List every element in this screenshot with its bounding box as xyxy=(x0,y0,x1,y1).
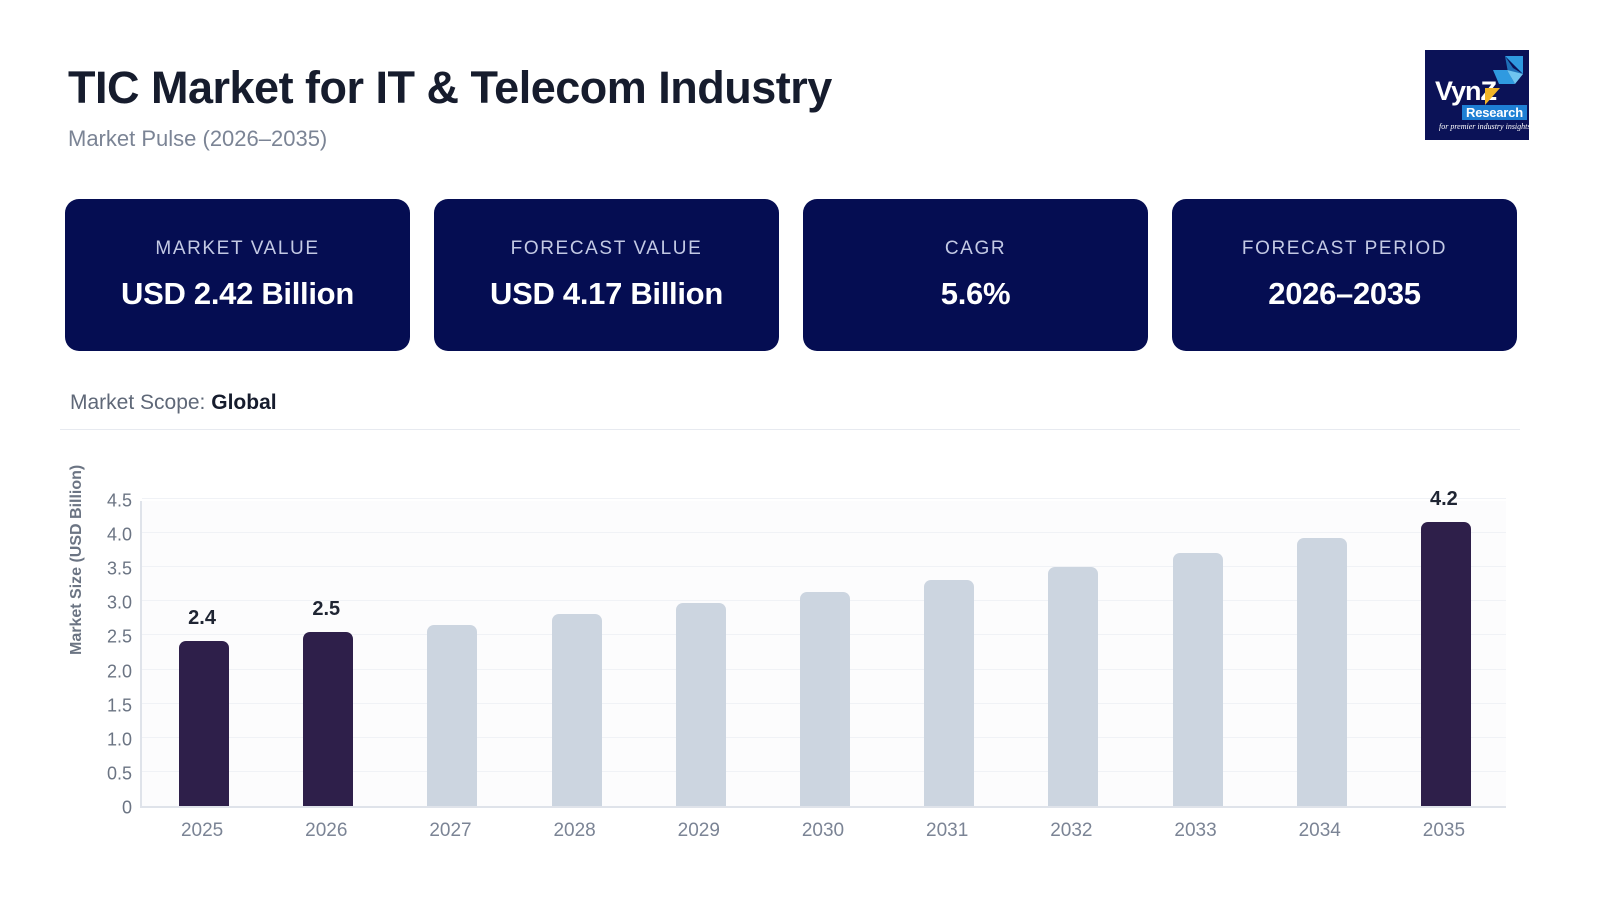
y-axis-tick-label: 0 xyxy=(86,798,132,819)
bar[interactable] xyxy=(676,603,726,806)
market-scope: Market Scope: Global xyxy=(70,391,277,415)
page-title: TIC Market for IT & Telecom Industry xyxy=(68,62,1348,114)
stat-card-value: 5.6% xyxy=(941,276,1010,312)
stat-card-cagr: CAGR 5.6% xyxy=(803,199,1148,351)
stat-card-value: USD 2.42 Billion xyxy=(121,276,354,312)
stat-card-label: FORECAST PERIOD xyxy=(1242,238,1447,260)
stat-card-label: FORECAST VALUE xyxy=(511,238,703,260)
logo-tagline: for premier industry insights xyxy=(1439,122,1529,131)
bar[interactable] xyxy=(1048,567,1098,806)
stat-card-label: CAGR xyxy=(945,238,1006,260)
y-axis-tick-label: 2.0 xyxy=(86,661,132,682)
stat-card-forecast-value: FORECAST VALUE USD 4.17 Billion xyxy=(434,199,779,351)
y-axis-tick-label: 1.0 xyxy=(86,729,132,750)
bar[interactable] xyxy=(1421,522,1471,806)
bar[interactable] xyxy=(303,632,353,806)
logo-subtitle: Research xyxy=(1462,105,1527,120)
x-axis-tick-label: 2028 xyxy=(553,820,595,842)
y-axis-tick-label: 2.5 xyxy=(86,627,132,648)
x-axis-tick-label: 2035 xyxy=(1423,820,1465,842)
logo-gold-accent xyxy=(1485,88,1500,105)
stat-card-label: MARKET VALUE xyxy=(155,238,319,260)
header: TIC Market for IT & Telecom Industry Mar… xyxy=(68,62,1348,152)
gridline xyxy=(142,532,1506,533)
market-report-infographic: TIC Market for IT & Telecom Industry Mar… xyxy=(0,0,1600,900)
y-axis-tick-label: 4.0 xyxy=(86,525,132,546)
section-divider xyxy=(60,429,1520,430)
vynz-research-logo: VynZ Research for premier industry insig… xyxy=(1425,50,1529,140)
stat-card-value: USD 4.17 Billion xyxy=(490,276,723,312)
y-axis-tick-label: 0.5 xyxy=(86,763,132,784)
x-axis-tick-label: 2026 xyxy=(305,820,347,842)
x-axis-tick-label: 2025 xyxy=(181,820,223,842)
page-subtitle: Market Pulse (2026–2035) xyxy=(68,126,1348,152)
stat-cards: MARKET VALUE USD 2.42 Billion FORECAST V… xyxy=(65,199,1517,351)
x-axis-tick-label: 2031 xyxy=(926,820,968,842)
y-axis-title: Market Size (USD Billion) xyxy=(68,465,86,655)
x-axis-tick-label: 2034 xyxy=(1299,820,1341,842)
gridline xyxy=(142,498,1506,499)
y-axis-tick-label: 4.5 xyxy=(86,491,132,512)
bar[interactable] xyxy=(427,625,477,806)
stat-card-market-value: MARKET VALUE USD 2.42 Billion xyxy=(65,199,410,351)
x-axis-tick-label: 2032 xyxy=(1050,820,1092,842)
market-size-bar-chart: Market Size (USD Billion) 00.51.01.52.02… xyxy=(0,455,1600,875)
x-axis-tick-label: 2033 xyxy=(1174,820,1216,842)
bar-value-label: 4.2 xyxy=(1430,488,1458,511)
y-axis-tick-label: 1.5 xyxy=(86,695,132,716)
market-scope-value: Global xyxy=(211,391,276,414)
market-scope-label: Market Scope: xyxy=(70,391,205,414)
x-axis-tick-label: 2029 xyxy=(678,820,720,842)
stat-card-value: 2026–2035 xyxy=(1268,276,1420,312)
bar[interactable] xyxy=(924,580,974,806)
y-axis-tick-label: 3.0 xyxy=(86,593,132,614)
bar[interactable] xyxy=(552,614,602,806)
bar[interactable] xyxy=(1297,538,1347,806)
bar[interactable] xyxy=(179,641,229,806)
bar[interactable] xyxy=(800,592,850,806)
y-axis-tick-label: 3.5 xyxy=(86,559,132,580)
x-axis-tick-label: 2027 xyxy=(429,820,471,842)
bar[interactable] xyxy=(1173,553,1223,806)
bar-value-label: 2.4 xyxy=(188,607,216,630)
stat-card-forecast-period: FORECAST PERIOD 2026–2035 xyxy=(1172,199,1517,351)
plot-area xyxy=(140,501,1506,808)
bar-value-label: 2.5 xyxy=(312,598,340,621)
x-axis-tick-label: 2030 xyxy=(802,820,844,842)
